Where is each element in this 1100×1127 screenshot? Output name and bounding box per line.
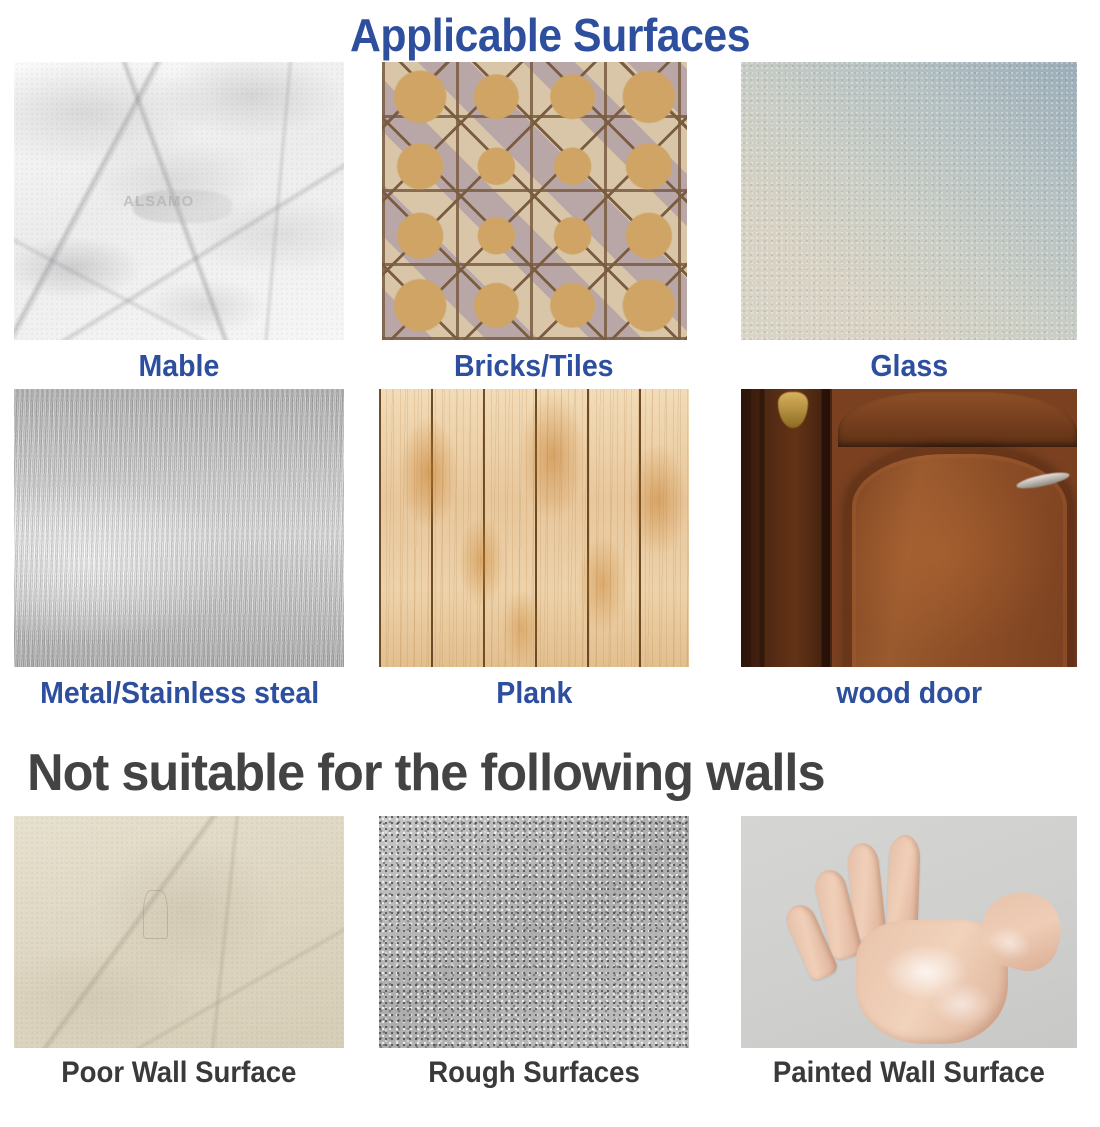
- poor-wall-texture-image: [14, 816, 344, 1048]
- not-suitable-row-1: Poor Wall Surface Rough Surfaces Painted…: [0, 816, 1100, 1088]
- surface-card-rough: Rough Surfaces: [350, 816, 717, 1088]
- surface-card-glass: Glass: [718, 62, 1100, 381]
- surface-label-mable: Mable: [139, 350, 220, 381]
- wood-door-texture-image: [741, 389, 1077, 667]
- watermark-text: ALSAMO: [123, 193, 194, 210]
- surface-label-poor-wall: Poor Wall Surface: [62, 1058, 297, 1088]
- surface-label-glass: Glass: [870, 350, 948, 381]
- surface-card-mable: ALSAMO Mable: [0, 62, 350, 381]
- surface-label-rough: Rough Surfaces: [428, 1058, 640, 1088]
- hand-illustration: [788, 835, 1050, 1048]
- surface-card-bricks-tiles: Bricks/Tiles: [350, 62, 717, 381]
- door-arch-molding: [838, 392, 1077, 448]
- surface-card-metal: Metal/Stainless steal: [0, 389, 350, 708]
- painted-wall-hand-photo-image: [741, 816, 1077, 1048]
- weathered-plank-texture-image: [379, 389, 689, 667]
- marble-texture-image: ALSAMO: [14, 62, 344, 340]
- surface-label-plank: Plank: [496, 677, 572, 708]
- applicable-row-1: ALSAMO Mable Bricks/Tiles Glass: [0, 62, 1100, 381]
- door-frame: [741, 389, 832, 667]
- rough-stucco-texture-image: [379, 816, 689, 1048]
- surface-card-plank: Plank: [350, 389, 717, 708]
- applicable-surfaces-section: Applicable Surfaces ALSAMO Mable Bricks/…: [0, 0, 1100, 708]
- page-title: Applicable Surfaces: [39, 0, 1062, 62]
- mosaic-tile-texture-image: [382, 62, 687, 340]
- surface-label-bricks-tiles: Bricks/Tiles: [454, 350, 614, 381]
- surface-card-wood-door: wood door: [718, 389, 1100, 708]
- surface-label-painted-wall: Painted Wall Surface: [773, 1058, 1045, 1088]
- surface-card-poor-wall: Poor Wall Surface: [0, 816, 350, 1088]
- surface-label-wood-door: wood door: [836, 677, 982, 708]
- not-suitable-heading: Not suitable for the following walls: [0, 730, 1067, 816]
- surface-card-painted-wall: Painted Wall Surface: [718, 816, 1100, 1088]
- frosted-glass-texture-image: [741, 62, 1077, 340]
- surface-label-metal: Metal/Stainless steal: [40, 677, 319, 708]
- brushed-metal-texture-image: [14, 389, 344, 667]
- not-suitable-section: Not suitable for the following walls Poo…: [0, 730, 1100, 1088]
- applicable-row-2: Metal/Stainless steal Plank wood door: [0, 389, 1100, 708]
